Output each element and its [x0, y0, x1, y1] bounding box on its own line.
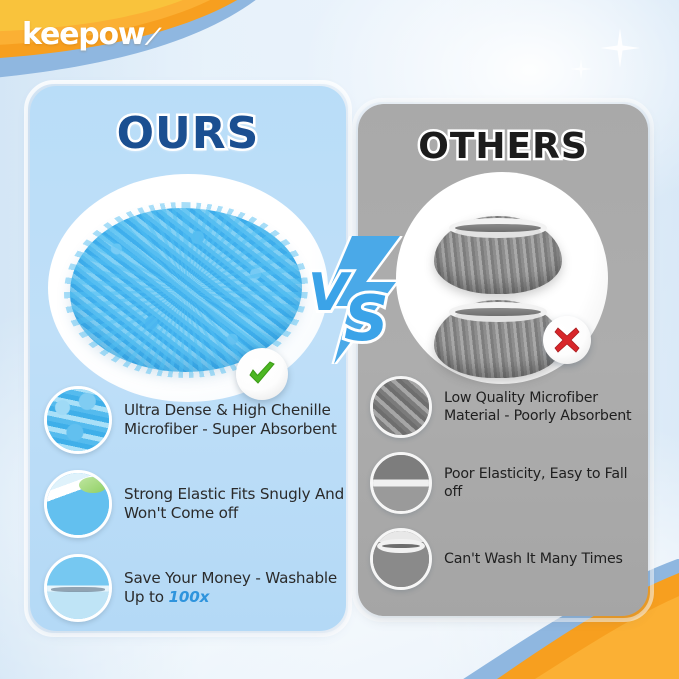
- feature-line-1: Low Quality Microfiber: [444, 389, 631, 407]
- feature-text: Ultra Dense & High Chenille Microfiber -…: [124, 401, 337, 440]
- list-item: Strong Elastic Fits Snugly And Won't Com…: [44, 470, 346, 538]
- gray-microfiber-closeup-icon: [370, 376, 432, 438]
- feature-text: Can't Wash It Many Times: [444, 550, 623, 568]
- list-item: Ultra Dense & High Chenille Microfiber -…: [44, 386, 346, 454]
- gray-pad-loose-elastic-closeup-icon: [370, 452, 432, 514]
- feature-line-2: Won't Come off: [124, 504, 344, 523]
- gray-pad-worn-closeup-icon: [370, 528, 432, 590]
- product-comparison-infographic: keepow⟋ OURS Ultra Dense & High Chenille…: [0, 0, 679, 679]
- versus-badge: V S: [300, 236, 412, 364]
- feature-text: Save Your Money - Washable Up to 100x: [124, 569, 337, 608]
- feature-line-2: Microfiber - Super Absorbent: [124, 420, 337, 439]
- ours-panel: OURS Ultra Dense & High Chenille Microfi…: [30, 86, 346, 631]
- list-item: Low Quality Microfiber Material - Poorly…: [370, 376, 648, 438]
- blue-chenille-mop-pad-image: [70, 208, 302, 372]
- feature-text: Poor Elasticity, Easy to Fall off: [444, 465, 648, 501]
- feature-line-2: Up to 100x: [124, 588, 337, 607]
- feature-line-1: Can't Wash It Many Times: [444, 550, 623, 568]
- feature-line-1: Strong Elastic Fits Snugly And: [124, 485, 344, 504]
- feature-line-2: Material - Poorly Absorbent: [444, 407, 631, 425]
- blue-chenille-fibers-closeup-icon: [44, 386, 112, 454]
- ours-verdict-badge: [236, 348, 288, 400]
- ours-feature-list: Ultra Dense & High Chenille Microfiber -…: [30, 386, 346, 622]
- blue-pad-elastic-band-closeup-icon: [44, 470, 112, 538]
- logo-bolt-icon: ⟋: [145, 25, 159, 50]
- blue-pad-washing-in-water-icon: [44, 554, 112, 622]
- brand-logo: keepow⟋: [22, 17, 160, 52]
- ours-title: OURS: [30, 108, 346, 159]
- feature-line-2-prefix: Up to: [124, 588, 168, 606]
- washable-count-highlight: 100x: [168, 588, 209, 606]
- feature-text: Strong Elastic Fits Snugly And Won't Com…: [124, 485, 344, 524]
- list-item: Poor Elasticity, Easy to Fall off: [370, 452, 648, 514]
- list-item: Can't Wash It Many Times: [370, 528, 648, 590]
- others-title: OTHERS: [358, 126, 648, 167]
- feature-line-1: Ultra Dense & High Chenille: [124, 401, 337, 420]
- feature-text: Low Quality Microfiber Material - Poorly…: [444, 389, 631, 425]
- green-check-icon: [245, 357, 279, 391]
- list-item: Save Your Money - Washable Up to 100x: [44, 554, 346, 622]
- svg-text:S: S: [344, 282, 389, 355]
- others-verdict-badge: [543, 316, 591, 364]
- red-x-icon: [552, 325, 582, 355]
- feature-line-1: Save Your Money - Washable: [124, 569, 337, 588]
- brand-logo-text: keepow: [22, 17, 144, 52]
- feature-line-1: Poor Elasticity, Easy to Fall off: [444, 465, 648, 501]
- vs-badge-icon: V S: [300, 236, 412, 364]
- others-feature-list: Low Quality Microfiber Material - Poorly…: [358, 376, 648, 590]
- gray-mop-pad-image: [434, 216, 562, 294]
